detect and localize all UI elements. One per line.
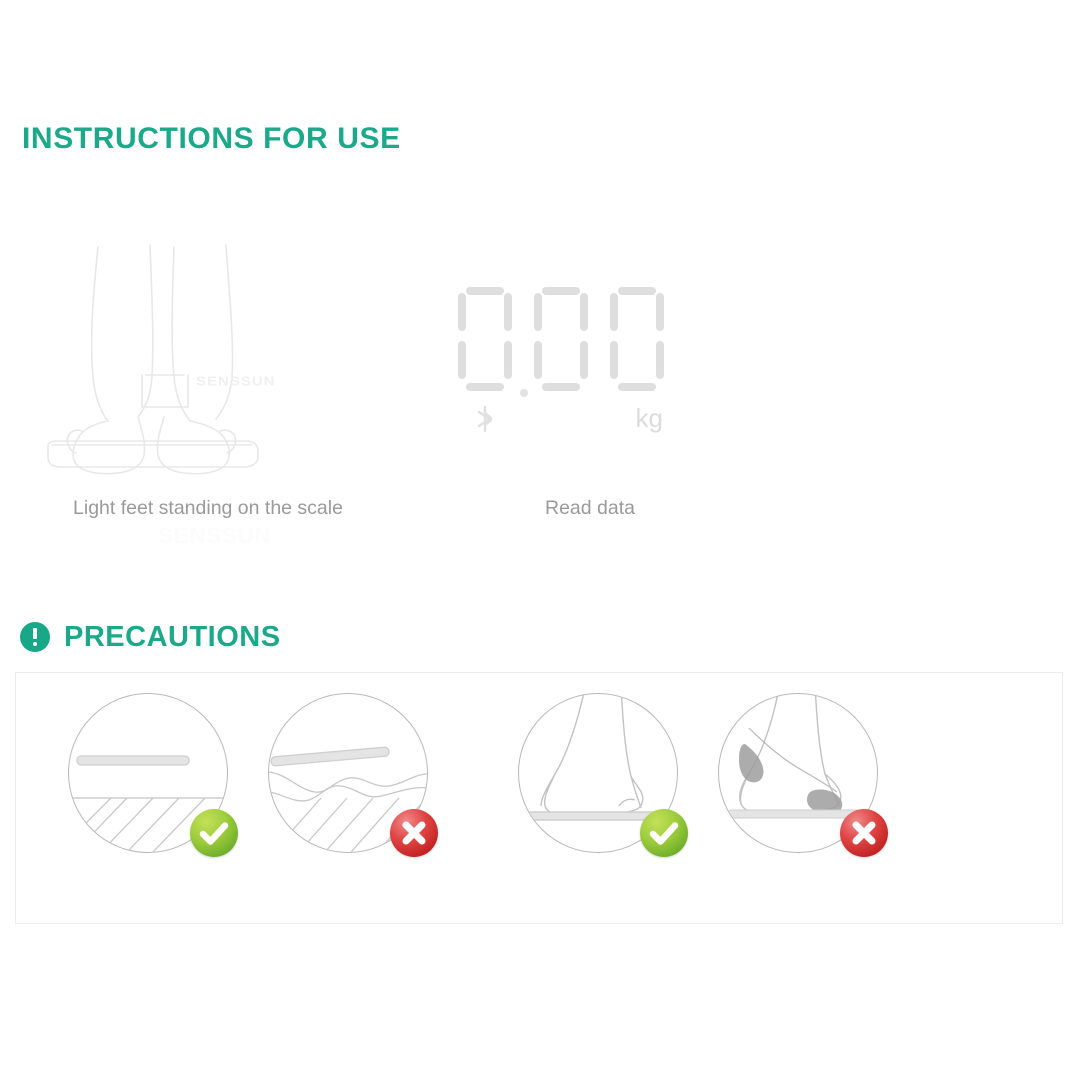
- scale-brand-text: SENSSUN: [196, 374, 276, 388]
- exclamation-circle-icon: [20, 622, 50, 652]
- lcd-display-illustration: kg: [440, 225, 740, 475]
- precaution-item-uneven-floor: [268, 693, 430, 855]
- precaution-item-bare-foot: [518, 693, 680, 855]
- cross-badge-icon: [840, 809, 888, 857]
- instruction-step-1-caption: Light feet standing on the scale: [48, 497, 368, 520]
- precaution-item-socked-foot: [718, 693, 880, 855]
- lcd-digit-1: [458, 287, 512, 391]
- illustration-watermark: SENSSUN: [158, 523, 271, 549]
- instruction-steps: SENSSUN SENSSUN Light feet standing on t…: [0, 225, 1080, 535]
- feet-on-scale-illustration: SENSSUN SENSSUN: [46, 225, 366, 475]
- precaution-item-hard-floor: [68, 693, 230, 855]
- lcd-unit-label: kg: [636, 405, 663, 431]
- instruction-step-1: SENSSUN SENSSUN Light feet standing on t…: [46, 225, 366, 535]
- lcd-digit-2: [534, 287, 588, 391]
- precautions-heading: PRECAUTIONS: [64, 621, 281, 654]
- lcd-indicator-row: kg: [458, 405, 673, 439]
- precautions-items: [16, 673, 1062, 923]
- lcd-readout: [458, 287, 673, 397]
- lcd-digit-3: [610, 287, 664, 391]
- cross-badge-icon: [390, 809, 438, 857]
- precautions-heading-row: PRECAUTIONS: [20, 617, 281, 657]
- instruction-step-2-caption: Read data: [440, 497, 740, 520]
- precautions-panel: [15, 672, 1063, 924]
- lcd-decimal-point: [520, 389, 528, 397]
- check-badge-icon: [190, 809, 238, 857]
- instruction-step-2: kg Read data: [440, 225, 740, 535]
- instructions-heading: INSTRUCTIONS FOR USE: [22, 122, 401, 156]
- check-badge-icon: [640, 809, 688, 857]
